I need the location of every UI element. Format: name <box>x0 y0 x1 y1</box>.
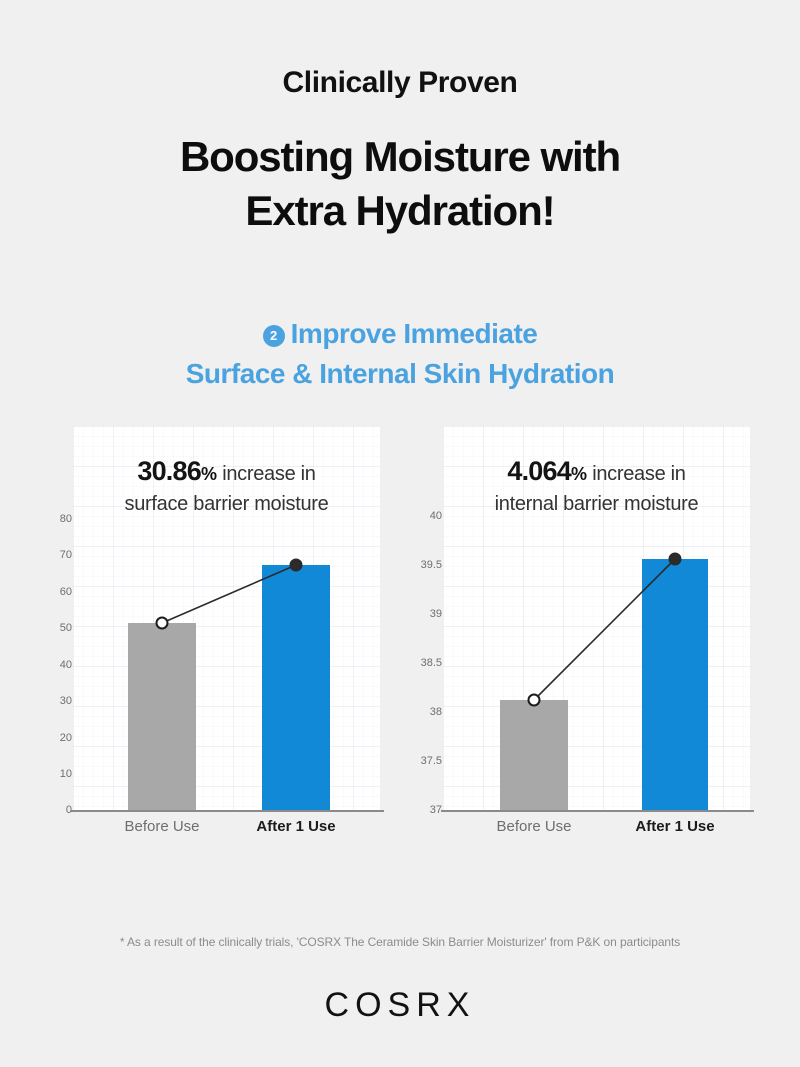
page-title: Boosting Moisture with Extra Hydration! <box>0 130 800 238</box>
data-point-after-1-use[interactable] <box>290 559 303 572</box>
x-axis-line <box>71 810 384 812</box>
y-tick-label: 0 <box>38 804 72 816</box>
y-tick-label: 39.5 <box>408 559 442 571</box>
chart-plot-area <box>73 488 380 810</box>
chart-plot-area <box>443 488 750 810</box>
section-subtitle: 2Improve Immediate Surface & Internal Sk… <box>0 314 800 394</box>
y-tick-label: 39 <box>408 608 442 620</box>
footnote: * As a result of the clinically trials, … <box>0 935 800 949</box>
x-label-after-1-use: After 1 Use <box>256 818 335 835</box>
x-axis-labels: Before Use After 1 Use <box>443 818 750 846</box>
subtitle-line-2: Surface & Internal Skin Hydration <box>0 354 800 394</box>
y-tick-label: 60 <box>38 586 72 598</box>
headline-line-1: Boosting Moisture with <box>180 133 620 180</box>
chart-internal-barrier-moisture: 37 37.5 38 38.5 39 39.5 40 4.064% increa… <box>408 426 754 846</box>
y-tick-label: 10 <box>38 768 72 780</box>
x-axis-line <box>441 810 754 812</box>
x-label-after-1-use: After 1 Use <box>635 818 714 835</box>
data-point-before-use[interactable] <box>528 694 541 707</box>
connector-line <box>443 488 750 810</box>
headline-line-2: Extra Hydration! <box>0 184 800 238</box>
brand-logo: COSRX <box>0 986 800 1025</box>
chart-surface-barrier-moisture: 0 10 20 30 40 50 60 70 80 30.86% increas… <box>38 426 384 846</box>
eyebrow-heading: Clinically Proven <box>0 66 800 100</box>
y-tick-label: 80 <box>38 513 72 525</box>
y-tick-label: 38 <box>408 706 442 718</box>
y-tick-label: 30 <box>38 695 72 707</box>
x-label-before-use: Before Use <box>124 818 199 835</box>
y-tick-label: 38.5 <box>408 657 442 669</box>
step-number-badge: 2 <box>263 325 285 347</box>
y-tick-label: 37 <box>408 804 442 816</box>
connector-line <box>73 488 380 810</box>
data-point-before-use[interactable] <box>156 617 169 630</box>
subtitle-line-1-text: Improve Immediate <box>291 318 538 349</box>
y-tick-label: 20 <box>38 732 72 744</box>
y-tick-label: 40 <box>408 510 442 522</box>
y-tick-label: 37.5 <box>408 755 442 767</box>
subtitle-line-1: 2Improve Immediate <box>0 314 800 354</box>
y-tick-label: 70 <box>38 549 72 561</box>
charts-container: 0 10 20 30 40 50 60 70 80 30.86% increas… <box>0 426 800 846</box>
y-tick-label: 40 <box>38 659 72 671</box>
data-point-after-1-use[interactable] <box>669 553 682 566</box>
x-label-before-use: Before Use <box>496 818 571 835</box>
y-tick-label: 50 <box>38 622 72 634</box>
x-axis-labels: Before Use After 1 Use <box>73 818 380 846</box>
